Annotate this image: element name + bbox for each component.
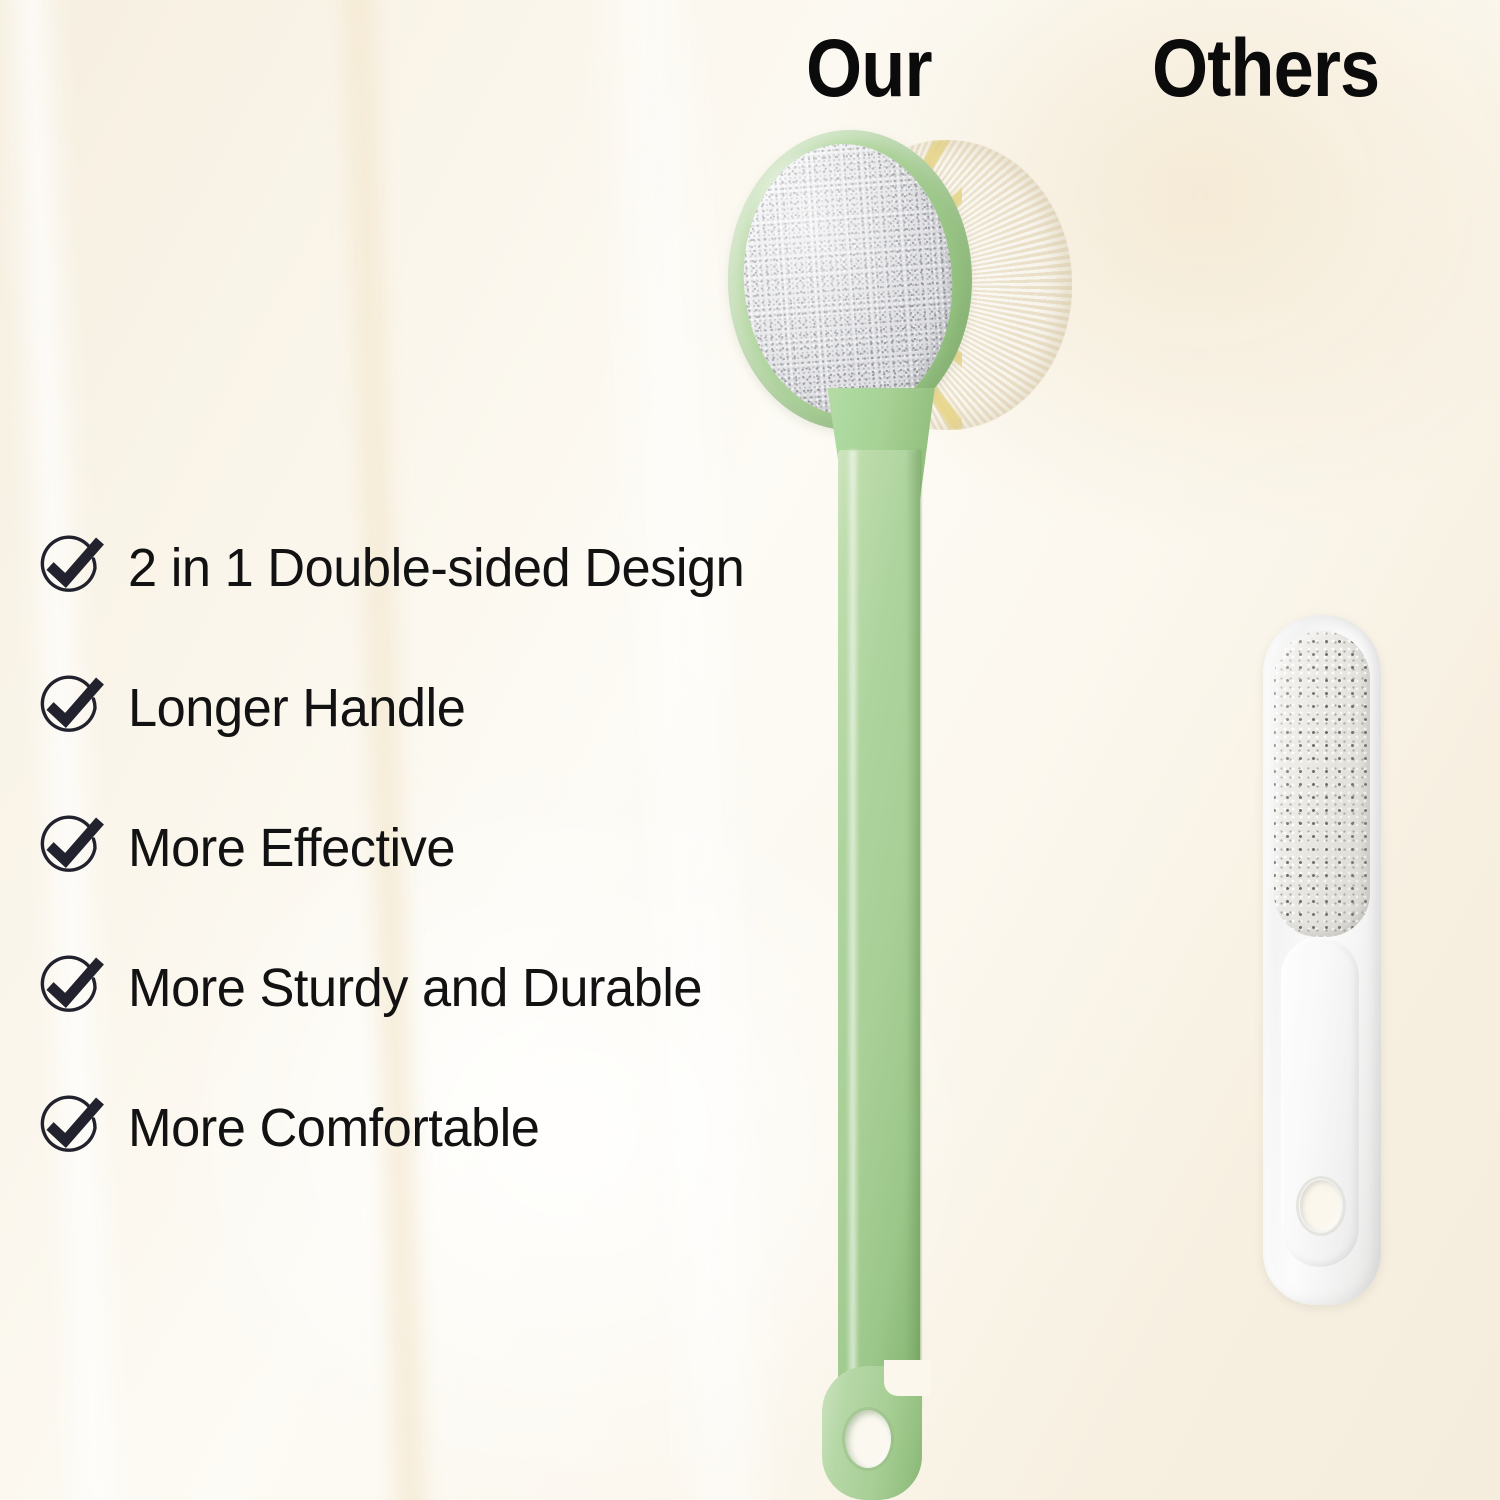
feature-item: 2 in 1 Double-sided Design: [34, 498, 804, 638]
hook-notch: [884, 1360, 930, 1396]
check-circle-icon: [34, 953, 104, 1023]
feature-label: More Comfortable: [128, 1100, 539, 1157]
pumice-shading: [735, 137, 961, 423]
column-heading-others: Others: [1152, 28, 1379, 110]
our-product-image: [700, 120, 1100, 1500]
handle-edge-shadow: [906, 450, 921, 1410]
pumice-stone-disc: [735, 137, 961, 423]
feature-label: Longer Handle: [128, 680, 465, 737]
feature-item: Longer Handle: [34, 638, 804, 778]
feature-item: More Comfortable: [34, 1058, 804, 1198]
others-product-image: [1255, 615, 1415, 1305]
handle-hook-end: [822, 1366, 922, 1500]
check-circle-icon: [34, 1093, 104, 1163]
feature-label: More Sturdy and Durable: [128, 960, 702, 1017]
feature-label: 2 in 1 Double-sided Design: [128, 540, 744, 597]
feature-item: More Effective: [34, 778, 804, 918]
column-heading-ours: Our: [806, 28, 932, 110]
check-circle-icon: [34, 813, 104, 883]
hanging-hole-rim: [842, 1407, 894, 1471]
handle-highlight: [846, 450, 859, 1405]
feature-item: More Sturdy and Durable: [34, 918, 804, 1058]
feature-list: 2 in 1 Double-sided Design Longer Handle…: [34, 498, 804, 1198]
check-circle-icon: [34, 673, 104, 743]
competitor-hanging-hole-rim: [1296, 1176, 1346, 1236]
product-comparison-image: Our Others 2 in 1 Double-sided Design Lo…: [0, 0, 1500, 1500]
feature-label: More Effective: [128, 820, 455, 877]
competitor-pumice-shading: [1274, 631, 1370, 937]
check-circle-icon: [34, 533, 104, 603]
competitor-pumice-stone: [1274, 631, 1370, 937]
